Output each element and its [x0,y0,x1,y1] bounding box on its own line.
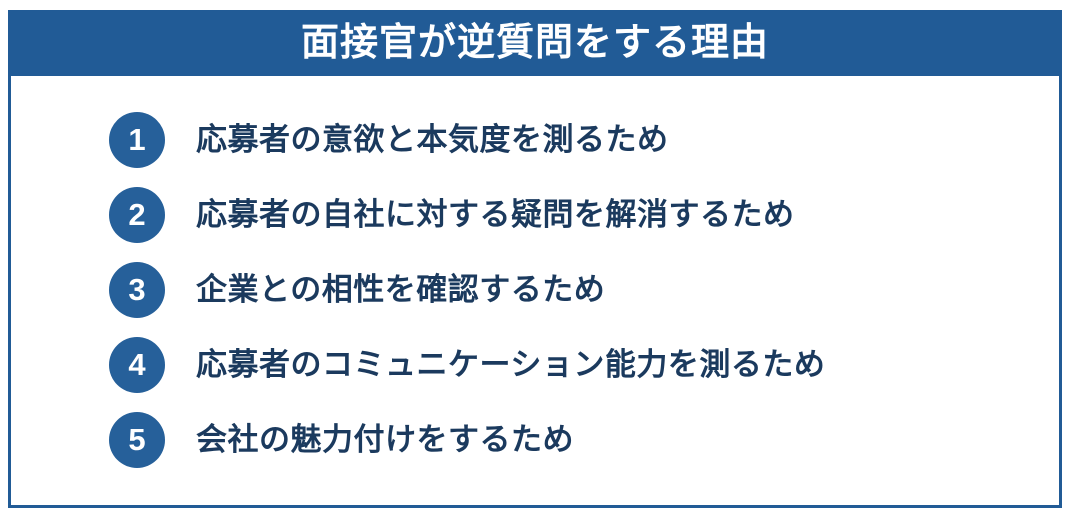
list-item: 3 企業との相性を確認するため [11,252,1059,327]
list-item-label: 応募者のコミュニケーション能力を測るため [196,347,825,383]
list-item-label: 会社の魅力付けをするため [196,422,574,458]
list-item-label: 企業との相性を確認するため [196,272,605,308]
list-item: 5 会社の魅力付けをするため [11,402,1059,477]
infographic-frame: 面接官が逆質問をする理由 1 応募者の意欲と本気度を測るため 2 応募者の自社に… [8,10,1062,508]
list-item-number-badge: 2 [109,187,165,243]
list-item: 4 応募者のコミュニケーション能力を測るため [11,327,1059,402]
list-item-label: 応募者の意欲と本気度を測るため [196,122,669,158]
list-item-number-badge: 5 [109,412,165,468]
reasons-list: 1 応募者の意欲と本気度を測るため 2 応募者の自社に対する疑問を解消するため … [11,76,1059,505]
list-item: 1 応募者の意欲と本気度を測るため [11,102,1059,177]
list-item: 2 応募者の自社に対する疑問を解消するため [11,177,1059,252]
list-item-number-badge: 1 [109,112,165,168]
list-item-label: 応募者の自社に対する疑問を解消するため [196,197,795,233]
page-title: 面接官が逆質問をする理由 [301,24,769,62]
list-item-number-badge: 3 [109,262,165,318]
header-bar: 面接官が逆質問をする理由 [8,10,1062,76]
list-item-number-badge: 4 [109,337,165,393]
